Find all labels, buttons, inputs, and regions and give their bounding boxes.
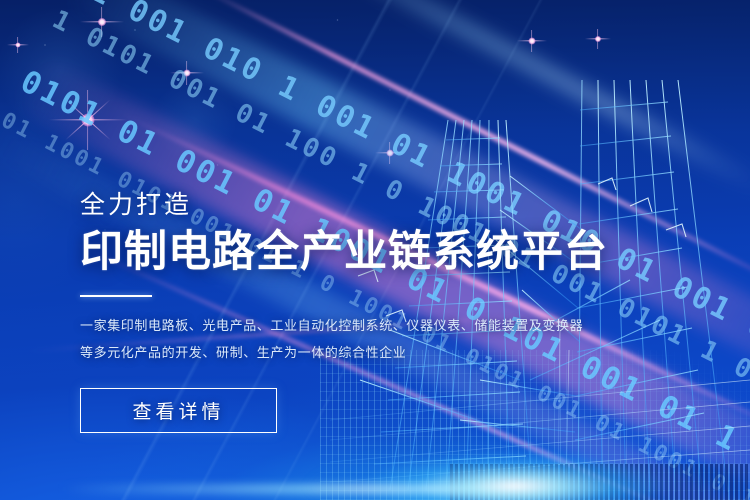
hero-eyebrow: 全力打造 bbox=[80, 192, 640, 220]
hero-banner: 01 001 010 1 001 01 1001 010 01 001 0101… bbox=[0, 0, 750, 500]
description-line: 等多元化产品的开发、研制、生产为一体的综合性企业 bbox=[80, 340, 640, 367]
view-details-button[interactable]: 查看详情 bbox=[80, 388, 277, 433]
title-divider bbox=[80, 295, 152, 297]
lens-flare-icon bbox=[300, 438, 730, 500]
page-title: 印制电路全产业链系统平台 bbox=[80, 229, 640, 275]
description-line: 一家集印制电路板、光电产品、工业自动化控制系统、仪器仪表、储能装置及变换器 bbox=[80, 313, 640, 340]
hero-copy-block: 全力打造 印制电路全产业链系统平台 一家集印制电路板、光电产品、工业自动化控制系… bbox=[80, 192, 640, 433]
hero-description: 一家集印制电路板、光电产品、工业自动化控制系统、仪器仪表、储能装置及变换器 等多… bbox=[80, 313, 640, 366]
